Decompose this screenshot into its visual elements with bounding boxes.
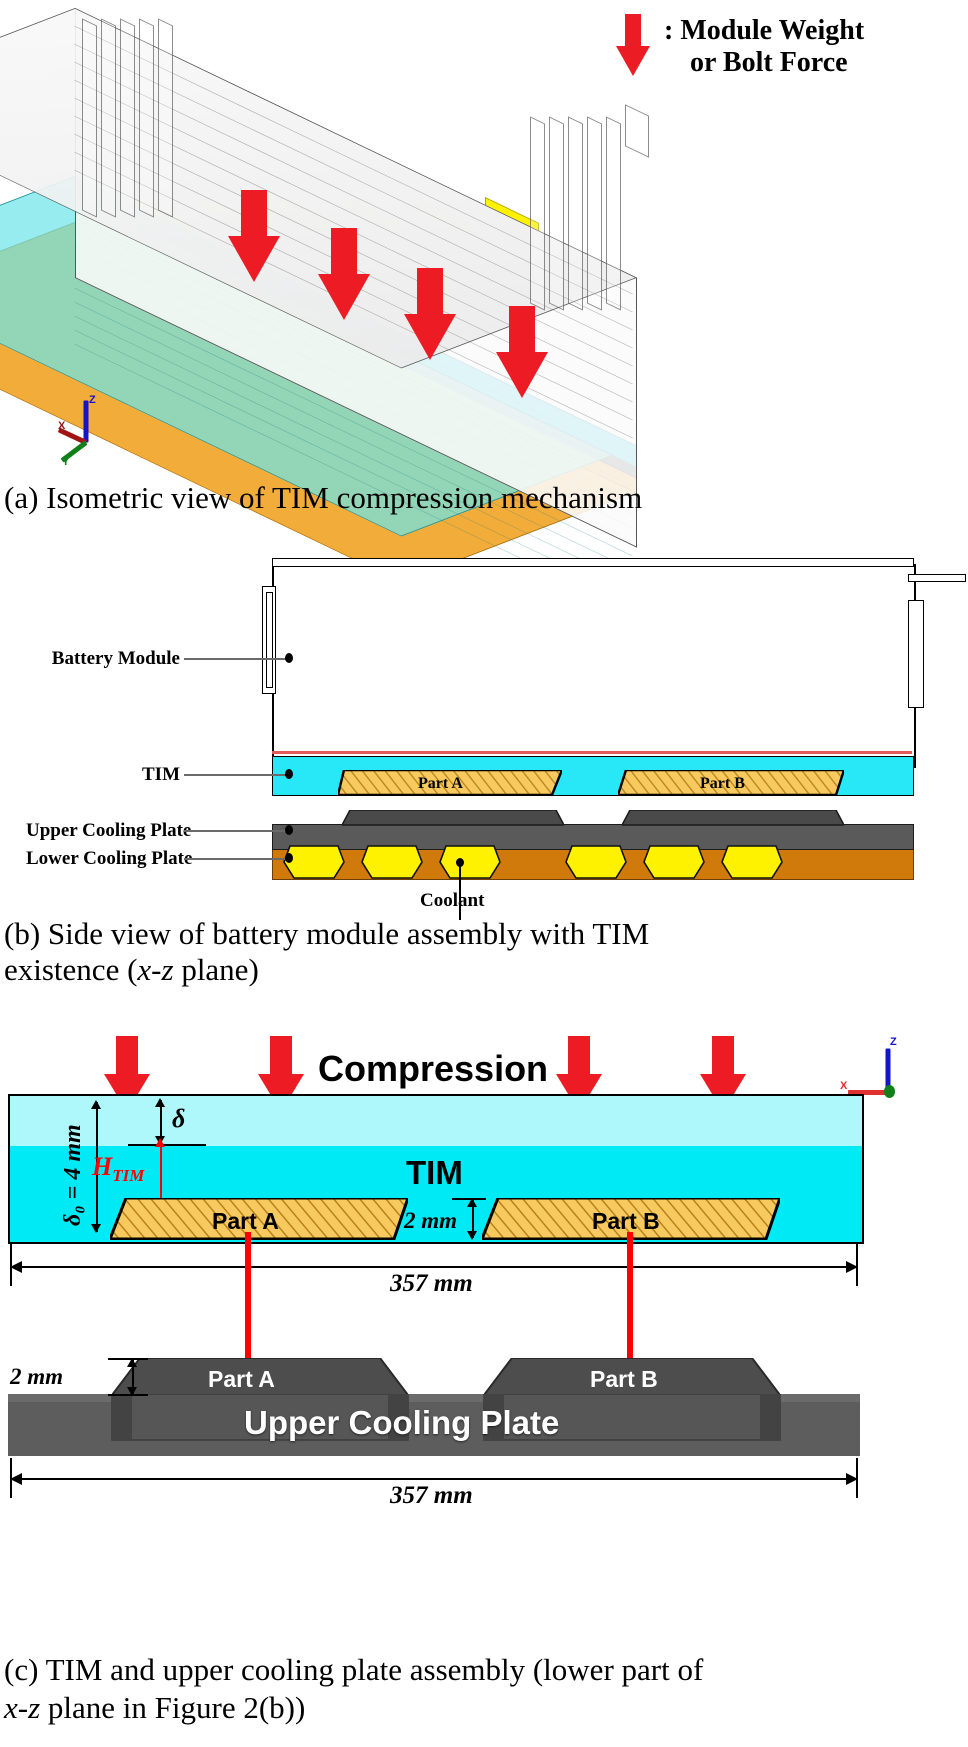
battery-module-top-cap [272,558,914,567]
htim-label: HTIM [92,1152,144,1186]
part-a-link-line [245,1232,251,1368]
dim-357-bottom-arrow-left [10,1473,22,1485]
lower-cooling-plate-label: Lower Cooling Plate [26,848,180,870]
gap-arrow-bottom [467,1231,477,1240]
compression-label: Compression [318,1048,548,1090]
part-a-label-c-bottom: Part A [208,1366,275,1393]
battery-module-leader [184,658,288,660]
dim-357-top-label: 357 mm [390,1270,473,1298]
caption-b-pre: existence ( [4,952,137,987]
cell-wireframe [568,116,583,310]
part-a-label-b: Part A [418,775,463,793]
lcp-leader [184,858,288,860]
cell-wireframe [530,116,545,310]
cell-wireframe [549,116,564,310]
axis-z-label: Z [89,394,96,406]
part-a-label-c-top: Part A [212,1208,279,1235]
cell-wireframe [587,116,602,310]
dim-357-top-arrow-left [10,1261,22,1273]
module-right-stub [908,574,966,582]
tim-label: TIM [96,764,180,786]
tim-block-label: TIM [406,1154,463,1192]
battery-module-label: Battery Module [50,648,180,670]
upper-cooling-plate-label: Upper Cooling Plate [26,820,180,842]
cell-wireframe [101,18,116,217]
plate-height-arrow-bottom [127,1387,137,1396]
caption-c-line1: (c) TIM and upper cooling plate assembly… [4,1652,949,1687]
axis-x-label: X [58,420,65,432]
ucp-leader [184,830,288,832]
dim-357-bottom-line [10,1478,858,1480]
ucp-dot [285,825,293,835]
caption-b-post: plane) [174,952,259,987]
cell-wireframe [120,18,135,217]
battery-module-body [272,564,916,768]
part-b-link-line [627,1232,633,1368]
coolant-channels [272,844,912,884]
caption-b-plane: x-z [137,952,173,987]
interface-red-line [272,751,912,754]
battery-module-dot [285,653,293,663]
module-weight-arrow [496,306,548,398]
module-weight-arrow [404,268,456,360]
axis-triad-c: Z X [838,1038,898,1098]
htim-arrow-top [155,1138,165,1147]
dim-357-bottom-label: 357 mm [390,1482,473,1510]
end-bracket-3d [625,104,649,158]
cell-wireframe [139,18,154,217]
caption-a: (a) Isometric view of TIM compression me… [4,480,964,515]
legend-line-1: : Module Weight [664,14,864,48]
cell-wireframe [606,116,621,310]
axis-y-label: Y [62,456,69,468]
legend-line-2: or Bolt Force [690,46,848,80]
dim-357-bottom-arrow-right [846,1473,858,1485]
ucp-boss-part-a [342,810,564,826]
delta0-arrow-top [91,1100,101,1109]
axis-triad-a: Z X Y [62,398,122,458]
caption-c-line2: x-z plane in Figure 2(b)) [4,1690,949,1725]
part-b-label-c-bottom: Part B [590,1366,658,1393]
caption-b-line1: (b) Side view of battery module assembly… [4,916,949,951]
module-left-tab-inner [266,592,273,688]
delta0-arrow-bottom [91,1224,101,1233]
cell-wireframe [158,18,173,217]
axis-z [84,401,89,443]
htim-subscript: TIM [112,1166,144,1185]
delta0-label: δ₀ = 4 mm [60,1124,87,1226]
tim-leader [184,774,288,776]
cell-wireframe [82,18,97,217]
axis-origin-marker [884,1085,895,1098]
lcp-dot [285,853,293,863]
htim-symbol: H [92,1152,112,1181]
caption-c-post: plane in Figure 2(b)) [40,1690,305,1725]
part-b-label-b: Part B [700,775,745,793]
caption-b-line2: existence (x-z plane) [4,952,949,987]
module-weight-arrow [318,228,370,320]
module-right-tab [908,600,924,708]
panel-b-side-view: Part A Part B Coolant Battery Modul [0,548,968,928]
panel-a-isometric-view: : Module Weight or Bolt Force Z X Y [0,0,968,478]
axis-x-label-c: X [840,1080,847,1092]
gap-arrow-top [467,1198,477,1207]
plate-height-arrow-top [127,1358,137,1367]
module-weight-arrow [228,190,280,282]
delta-witness-line [128,1144,206,1146]
caption-c-plane: x-z [4,1690,40,1725]
dim-357-top-line [10,1266,858,1268]
delta-label: δ [172,1104,185,1134]
part-b-label-c-top: Part B [592,1208,660,1235]
upper-cooling-plate-label-c: Upper Cooling Plate [244,1404,559,1442]
coolant-label: Coolant [420,890,484,912]
tim-compression-gap [10,1096,862,1146]
dim-357-top-arrow-right [846,1261,858,1273]
delta-arrow-top [155,1098,165,1107]
gap-label-2mm: 2 mm [404,1208,457,1234]
ucp-boss-part-b [622,810,844,826]
axis-z-label-c: Z [890,1036,897,1048]
tim-dot [285,769,293,779]
plate-height-label-2mm: 2 mm [10,1364,63,1390]
legend-down-arrow-icon [616,14,650,76]
panel-c-tim-plate-assembly: Compression Z X TIM δ₀ = 4 mm δ HTIM Par… [0,1018,968,1638]
